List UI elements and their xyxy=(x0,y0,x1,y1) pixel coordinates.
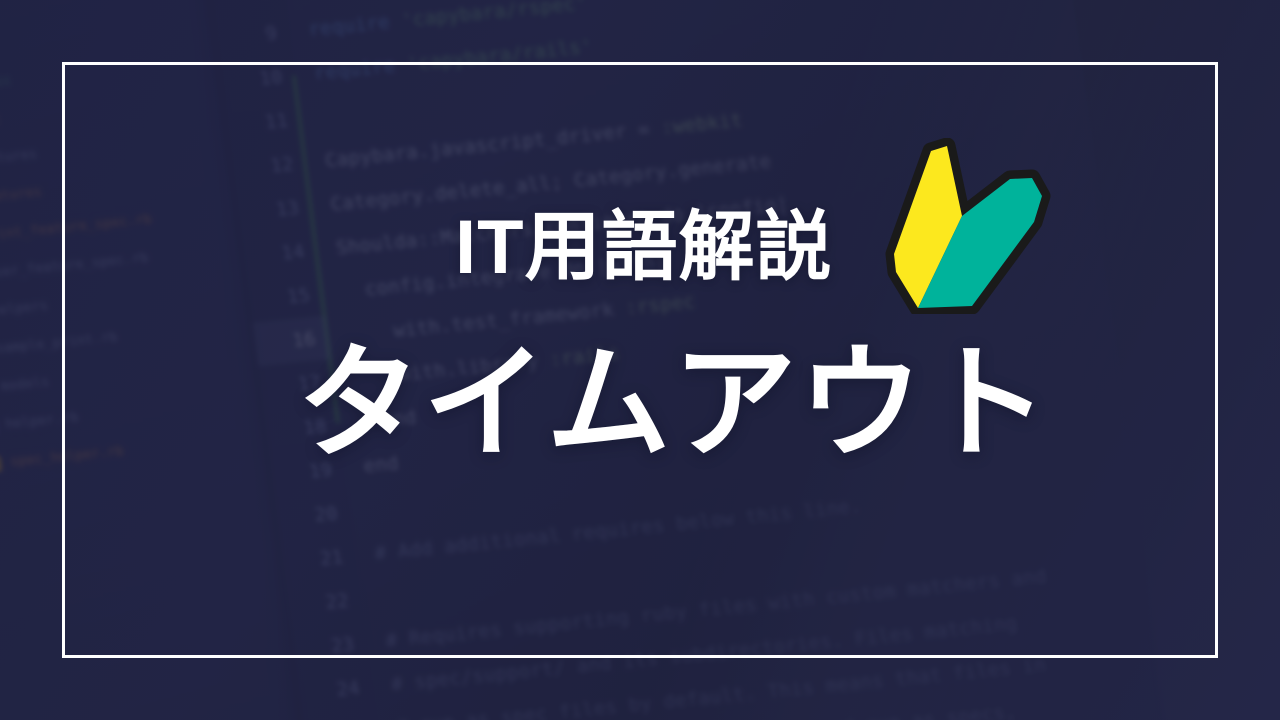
file-tree-label: print_feature_spec.rb xyxy=(0,212,153,244)
line-number: 11 xyxy=(225,97,304,148)
code-token: 'capybara/rails' xyxy=(405,35,593,75)
code-token: :webkit xyxy=(660,109,744,139)
background-photo: ▸db▸config▸lib▸log▾public▾spec▸fixtures▾… xyxy=(0,0,1280,720)
file-tree-label: fixtures xyxy=(0,147,38,168)
line-number: 16 xyxy=(253,316,332,367)
code-token: end xyxy=(362,452,400,477)
code-token: require xyxy=(307,10,402,41)
code-token: :rails xyxy=(548,342,620,371)
line-number: 14 xyxy=(242,228,321,279)
file-tree-label: sample_print.rb xyxy=(0,330,118,357)
line-number: 21 xyxy=(280,534,359,585)
line-number: 15 xyxy=(247,272,326,323)
line-number: 17 xyxy=(258,359,337,410)
line-number: 9 xyxy=(214,10,293,61)
line-number: 18 xyxy=(264,403,343,454)
thumbnail-card: ▸db▸config▸lib▸log▾public▾spec▸fixtures▾… xyxy=(0,0,1280,720)
file-tree-label: models xyxy=(0,374,50,394)
editor-screen: ▸db▸config▸lib▸log▾public▾spec▸fixtures▾… xyxy=(0,0,1172,720)
line-number: 10 xyxy=(220,54,299,105)
file-tree-label: spec xyxy=(0,112,1,130)
code-area: require 'spec_helper'require 'rspec/rail… xyxy=(269,0,1172,720)
wakaba-leaf-icon xyxy=(884,138,1052,314)
line-number: 22 xyxy=(286,577,365,628)
file-tree-label: user_feature_spec.rb xyxy=(0,250,149,281)
line-number: 13 xyxy=(236,185,315,236)
line-number: 19 xyxy=(269,446,348,497)
code-token: end xyxy=(357,406,418,434)
file-tree-label: spec_helper.rb xyxy=(9,443,124,469)
line-number: 24 xyxy=(297,665,376,716)
file-tree-label: public xyxy=(0,73,12,93)
file-tree-label: features xyxy=(0,184,43,205)
ruby-file-icon xyxy=(0,454,3,473)
code-token: require xyxy=(313,54,408,85)
line-number: 20 xyxy=(275,490,354,541)
file-tree-label: helper.rb xyxy=(5,410,80,432)
line-number: 12 xyxy=(231,141,310,192)
file-tree-label: helpers xyxy=(0,298,49,318)
code-token: :rspec xyxy=(624,291,696,320)
line-number: 23 xyxy=(291,621,370,672)
